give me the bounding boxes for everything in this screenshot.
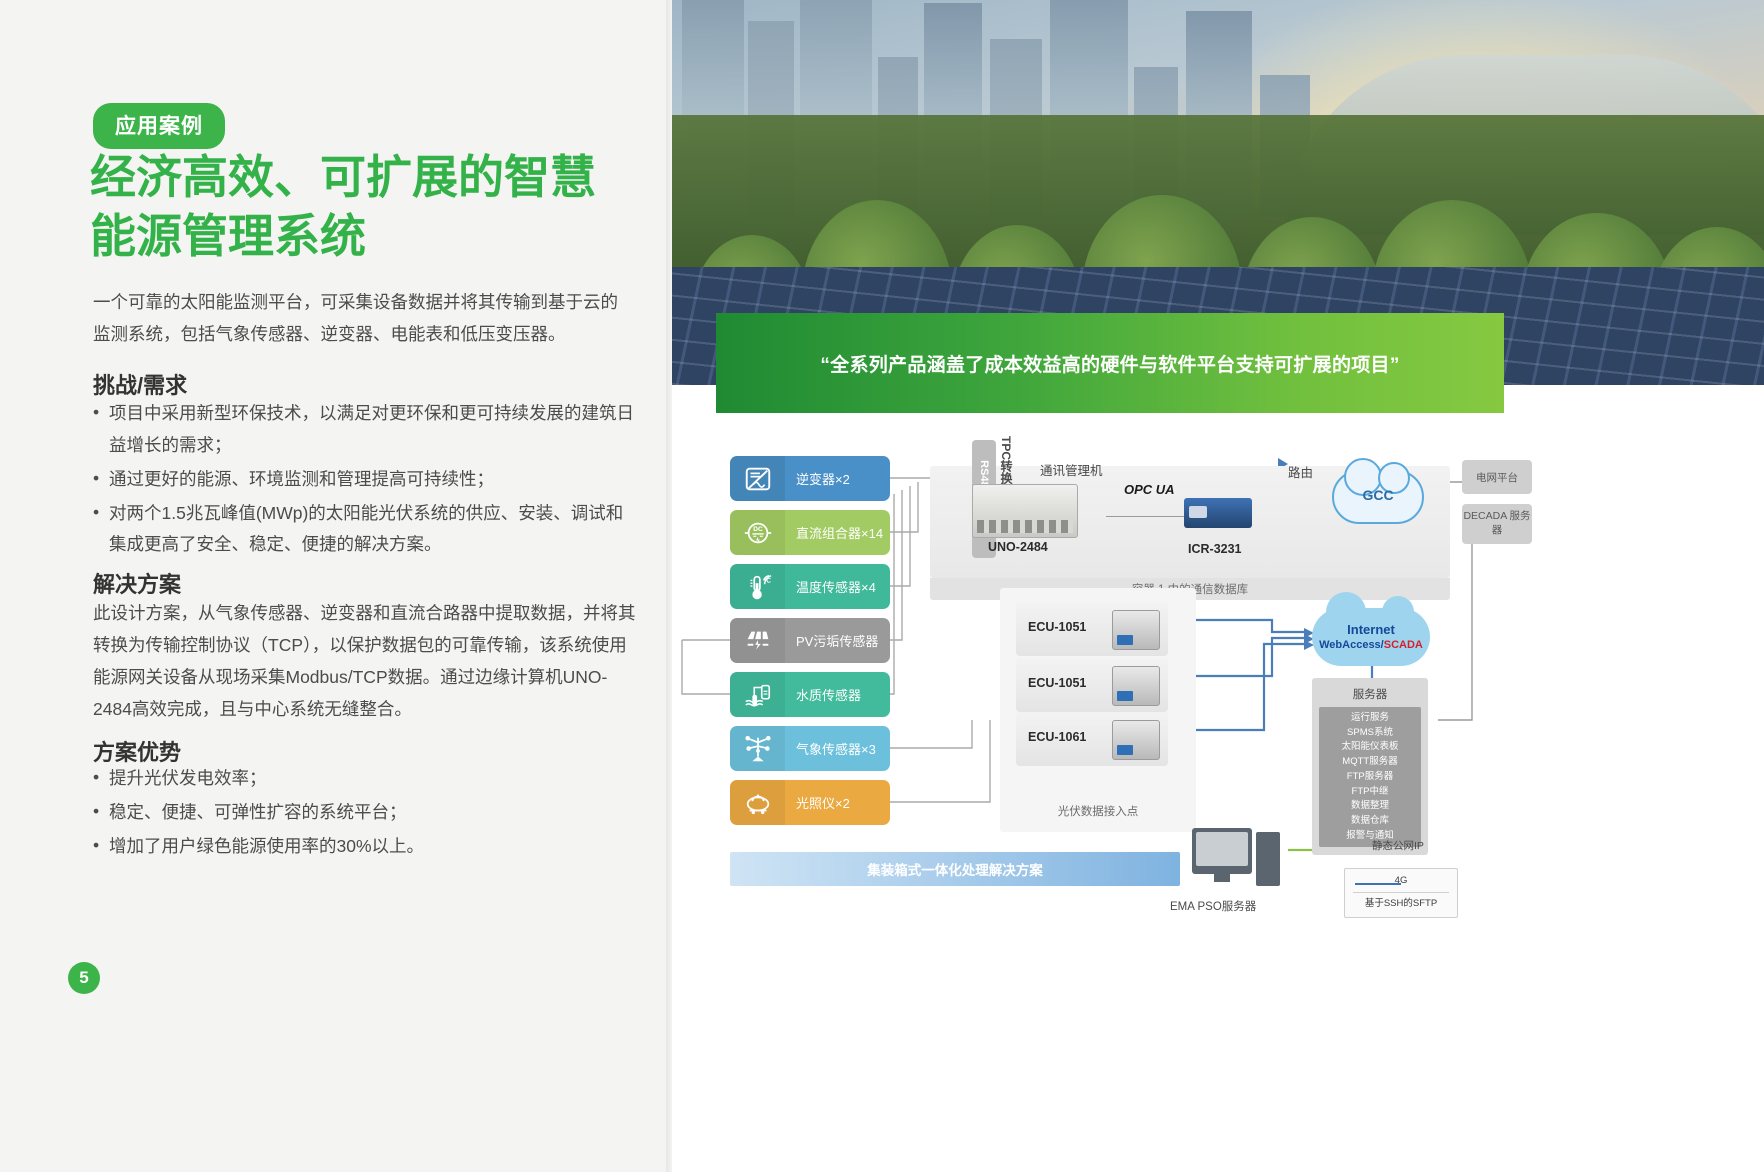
- device-row-pv-soiling-sensor[interactable]: PV污垢传感器: [730, 618, 890, 663]
- ecu-hardware: [1112, 610, 1160, 650]
- icr-3231-device: [1184, 498, 1252, 528]
- device-label: 水质传感器: [785, 672, 890, 717]
- device-label: 气象传感器×3: [785, 726, 890, 771]
- decada-server-box: DECADA 服务器: [1462, 504, 1532, 544]
- challenge-list: 项目中采用新型环保技术，以满足对更环保和更可持续发展的建筑日益增长的需求； 通过…: [93, 398, 638, 561]
- list-item: SPMS系统: [1319, 726, 1421, 741]
- server-panel-title: 服务器: [1312, 683, 1428, 707]
- gcc-cloud: GCC: [1332, 470, 1424, 524]
- device-label: PV污垢传感器: [785, 618, 890, 663]
- pv-access-point-caption: 光伏数据接入点: [1000, 800, 1196, 822]
- section-body-solution: 此设计方案，从气象传感器、逆变器和直流合路器中提取数据，并将其转换为传输控制协议…: [93, 598, 638, 725]
- device-row-inverter[interactable]: 逆变器×2: [730, 456, 890, 501]
- webaccess-scada-label: WebAccess/SCADA: [1312, 639, 1430, 651]
- router-label: 路由: [1288, 462, 1313, 481]
- ecu-device-2: ECU-1051: [1016, 658, 1168, 712]
- section-body-benefit: 提升光伏发电效率； 稳定、便捷、可弹性扩容的系统平台； 增加了用户绿色能源使用率…: [93, 763, 638, 865]
- monitor-stand: [1214, 874, 1230, 882]
- inverter-icon: [730, 456, 785, 501]
- device-row-pyranometer[interactable]: 光照仪×2: [730, 780, 890, 825]
- list-item: FTP服务器: [1319, 770, 1421, 785]
- connection-legend: 4G 基于SSH的SFTP: [1344, 868, 1458, 918]
- legend-divider: [1353, 892, 1449, 893]
- system-architecture-diagram: 逆变器×2 DC 直流组合器×14 ℃ 温度传感器×4 PV污垢传感器: [672, 420, 1764, 950]
- list-item: 太阳能仪表板: [1319, 740, 1421, 755]
- gcc-label: GCC: [1332, 487, 1424, 503]
- water-quality-sensor-icon: [730, 672, 785, 717]
- icr-3231-label: ICR-3231: [1188, 542, 1242, 556]
- ecu-hardware: [1112, 666, 1160, 706]
- device-label: 逆变器×2: [785, 456, 890, 501]
- list-item: 运行服务: [1319, 711, 1421, 726]
- list-item: 增加了用户绿色能源使用率的30%以上。: [93, 831, 638, 863]
- ecu-label: ECU-1051: [1028, 620, 1086, 634]
- intro-paragraph: 一个可靠的太阳能监测平台，可采集设备数据并将其传输到基于云的监测系统，包括气象传…: [93, 287, 633, 351]
- webaccess-text: WebAccess/: [1319, 639, 1384, 651]
- workstation-label: EMA PSO服务器: [1170, 898, 1256, 914]
- device-label: 光照仪×2: [785, 780, 890, 825]
- device-row-temperature-sensor[interactable]: ℃ 温度传感器×4: [730, 564, 890, 609]
- uno-2484-device: [972, 484, 1078, 538]
- benefit-list: 提升光伏发电效率； 稳定、便捷、可弹性扩容的系统平台； 增加了用户绿色能源使用率…: [93, 763, 638, 863]
- temperature-sensor-icon: ℃: [730, 564, 785, 609]
- internet-cloud: Internet WebAccess/SCADA: [1312, 608, 1430, 666]
- server-service-list: 运行服务 SPMS系统 太阳能仪表板 MQTT服务器 FTP服务器 FTP中继 …: [1319, 707, 1421, 847]
- list-item: 提升光伏发电效率；: [93, 763, 638, 795]
- pc-tower-icon: [1256, 832, 1280, 886]
- internet-label: Internet: [1312, 622, 1430, 637]
- section-title-challenge: 挑战/需求: [93, 368, 187, 400]
- ecu-label: ECU-1051: [1028, 676, 1086, 690]
- list-item: MQTT服务器: [1319, 755, 1421, 770]
- list-item: 稳定、便捷、可弹性扩容的系统平台；: [93, 797, 638, 829]
- pv-soiling-sensor-icon: [730, 618, 785, 663]
- dc-combiner-icon: DC: [730, 510, 785, 555]
- list-item: FTP中继: [1319, 785, 1421, 800]
- legend-line: [1355, 883, 1401, 885]
- list-item: 项目中采用新型环保技术，以满足对更环保和更可持续发展的建筑日益增长的需求；: [93, 398, 638, 462]
- brochure-page: 应用案例 经济高效、可扩展的智慧能源管理系统 一个可靠的太阳能监测平台，可采集设…: [0, 0, 1764, 1172]
- device-row-water-quality-sensor[interactable]: 水质传感器: [730, 672, 890, 717]
- list-item: 数据整理: [1319, 799, 1421, 814]
- static-ip-label: 静态公网IP: [1372, 838, 1424, 853]
- section-title-solution: 解决方案: [93, 567, 181, 599]
- uno-2484-label: UNO-2484: [988, 540, 1048, 554]
- bottom-banner: 集装箱式一体化处理解决方案: [730, 852, 1180, 886]
- left-content-panel: 应用案例 经济高效、可扩展的智慧能源管理系统 一个可靠的太阳能监测平台，可采集设…: [0, 0, 672, 1172]
- ecu-hardware: [1112, 720, 1160, 760]
- device-label: 直流组合器×14: [785, 510, 890, 555]
- monitor-icon: [1192, 828, 1252, 874]
- page-title: 经济高效、可扩展的智慧能源管理系统: [90, 148, 635, 266]
- list-item: 通过更好的能源、环境监测和管理提高可持续性；: [93, 464, 638, 496]
- ecu-label: ECU-1061: [1028, 730, 1086, 744]
- section-body-challenge: 项目中采用新型环保技术，以满足对更环保和更可持续发展的建筑日益增长的需求； 通过…: [93, 398, 638, 563]
- pyranometer-icon: [730, 780, 785, 825]
- device-list: 逆变器×2 DC 直流组合器×14 ℃ 温度传感器×4 PV污垢传感器: [730, 456, 890, 834]
- page-number: 5: [68, 962, 100, 994]
- opcua-label: OPC UA: [1124, 482, 1175, 497]
- list-item: 数据仓库: [1319, 814, 1421, 829]
- device-label: 温度传感器×4: [785, 564, 890, 609]
- svg-text:DC: DC: [753, 526, 763, 533]
- comm-manager-label: 通讯管理机: [1040, 460, 1103, 479]
- opcua-connector: [1106, 516, 1184, 517]
- server-panel: 服务器 运行服务 SPMS系统 太阳能仪表板 MQTT服务器 FTP服务器 FT…: [1312, 678, 1428, 855]
- quote-banner: “全系列产品涵盖了成本效益高的硬件与软件平台支持可扩展的项目”: [716, 313, 1504, 413]
- list-item: 对两个1.5兆瓦峰值(MWp)的太阳能光伏系统的供应、安装、调试和集成更高了安全…: [93, 498, 638, 562]
- ecu-device-3: ECU-1061: [1016, 712, 1168, 766]
- legend-label-sftp: 基于SSH的SFTP: [1345, 895, 1457, 909]
- grid-platform-box: 电网平台: [1462, 460, 1532, 494]
- category-badge: 应用案例: [93, 103, 225, 149]
- workstation-illustration: [1192, 828, 1284, 892]
- weather-sensor-icon: [730, 726, 785, 771]
- cloud-shape: [1312, 608, 1430, 666]
- scada-text: SCADA: [1384, 639, 1423, 651]
- device-row-weather-sensor[interactable]: 气象传感器×3: [730, 726, 890, 771]
- ecu-device-1: ECU-1051: [1016, 602, 1168, 656]
- device-row-dc-combiner[interactable]: DC 直流组合器×14: [730, 510, 890, 555]
